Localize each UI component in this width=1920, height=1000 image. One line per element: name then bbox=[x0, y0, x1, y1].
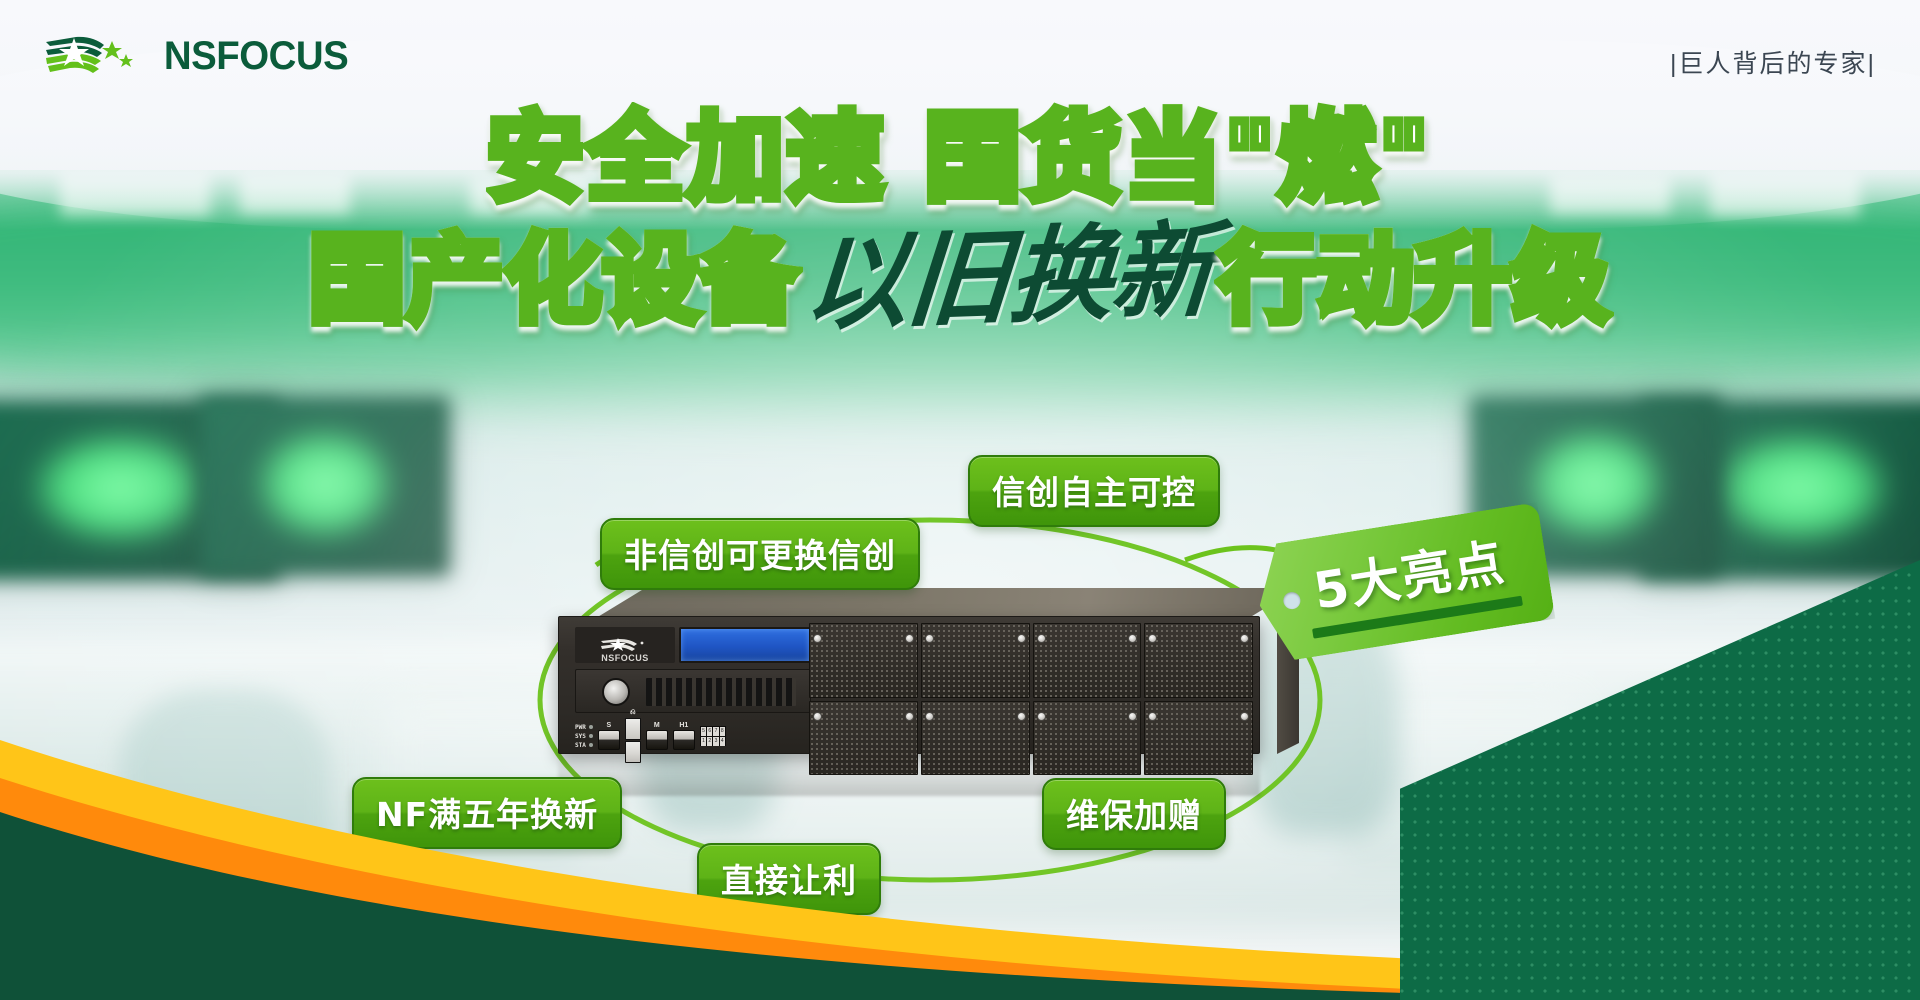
promo-banner: NSFOCUS |巨人背后的专家| 安全加速 国货当"燃" 国产化设备以旧换新行… bbox=[0, 0, 1920, 1000]
server-top-cover bbox=[596, 588, 1298, 618]
server-brand-plate: NSFOCUS bbox=[575, 627, 675, 663]
headline-line-2: 国产化设备以旧换新行动升级 bbox=[0, 225, 1920, 329]
nsfocus-flag-star-logo-icon bbox=[42, 32, 146, 80]
headline-line1-text: 安全加速 国货当"燃" bbox=[487, 102, 1432, 214]
headline-line2-left: 国产化设备 bbox=[309, 224, 799, 336]
header-tagline: |巨人背后的专家| bbox=[1670, 44, 1876, 80]
headline-line2-right: 行动升级 bbox=[1219, 224, 1611, 336]
headline-line-1: 安全加速 国货当"燃" bbox=[0, 110, 1920, 207]
server-brand-text: NSFOCUS bbox=[601, 653, 649, 663]
server-logo-icon bbox=[599, 637, 651, 653]
logo-wordmark: NSFOCUS bbox=[164, 34, 348, 79]
badge-non-trusted-replaceable[interactable]: 非信创可更换信创 bbox=[600, 518, 920, 590]
server-lcd-display bbox=[679, 627, 811, 663]
badge-trusted-autonomous[interactable]: 信创自主可控 bbox=[968, 455, 1220, 527]
headline-block: 安全加速 国货当"燃" 国产化设备以旧换新行动升级 bbox=[0, 110, 1920, 329]
headline-brush-phrase: 以旧换新 bbox=[795, 218, 1224, 337]
nsfocus-logo[interactable]: NSFOCUS bbox=[42, 32, 352, 80]
